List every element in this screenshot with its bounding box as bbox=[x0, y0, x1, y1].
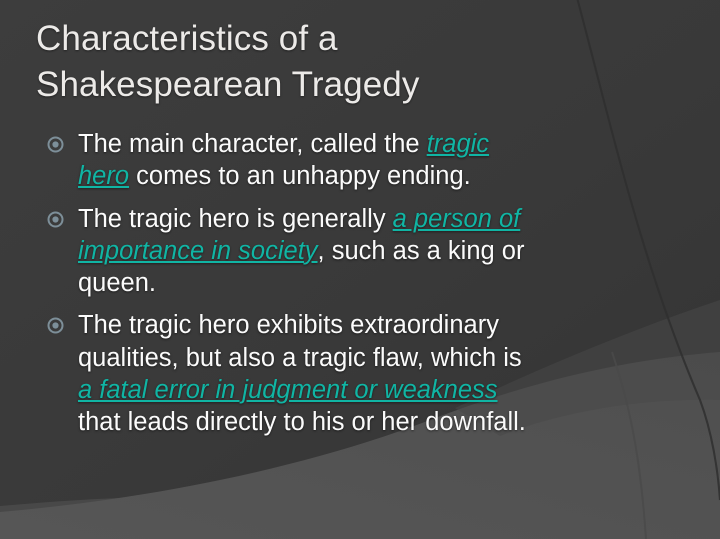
text-run: The main character, called the bbox=[78, 130, 427, 158]
bullet-list: The main character, called the tragic he… bbox=[36, 128, 686, 438]
list-item: The tragic hero is generally a person of… bbox=[36, 203, 686, 300]
target-ring-icon bbox=[47, 317, 64, 334]
list-item: The tragic hero exhibits extraordinary q… bbox=[36, 309, 686, 438]
list-item: The main character, called the tragic he… bbox=[36, 128, 686, 193]
list-item-text: The tragic hero exhibits extraordinary q… bbox=[78, 311, 526, 436]
slide-content: Characteristics of a Shakespearean Trage… bbox=[0, 0, 720, 539]
text-run: The tragic hero is generally bbox=[78, 205, 393, 233]
target-ring-icon bbox=[47, 211, 64, 228]
hyperlink[interactable]: a fatal error in judgment or weakness bbox=[78, 376, 498, 404]
target-ring-icon bbox=[47, 136, 64, 153]
text-run: comes to an unhappy ending. bbox=[129, 162, 471, 190]
text-run: that leads directly to his or her downfa… bbox=[78, 408, 526, 436]
text-run: The tragic hero exhibits extraordinary q… bbox=[78, 311, 522, 371]
presentation-slide: Characteristics of a Shakespearean Trage… bbox=[0, 0, 720, 539]
list-item-text: The tragic hero is generally a person of… bbox=[78, 205, 524, 298]
page-title: Characteristics of a Shakespearean Trage… bbox=[36, 16, 676, 108]
list-item-text: The main character, called the tragic he… bbox=[78, 130, 489, 190]
